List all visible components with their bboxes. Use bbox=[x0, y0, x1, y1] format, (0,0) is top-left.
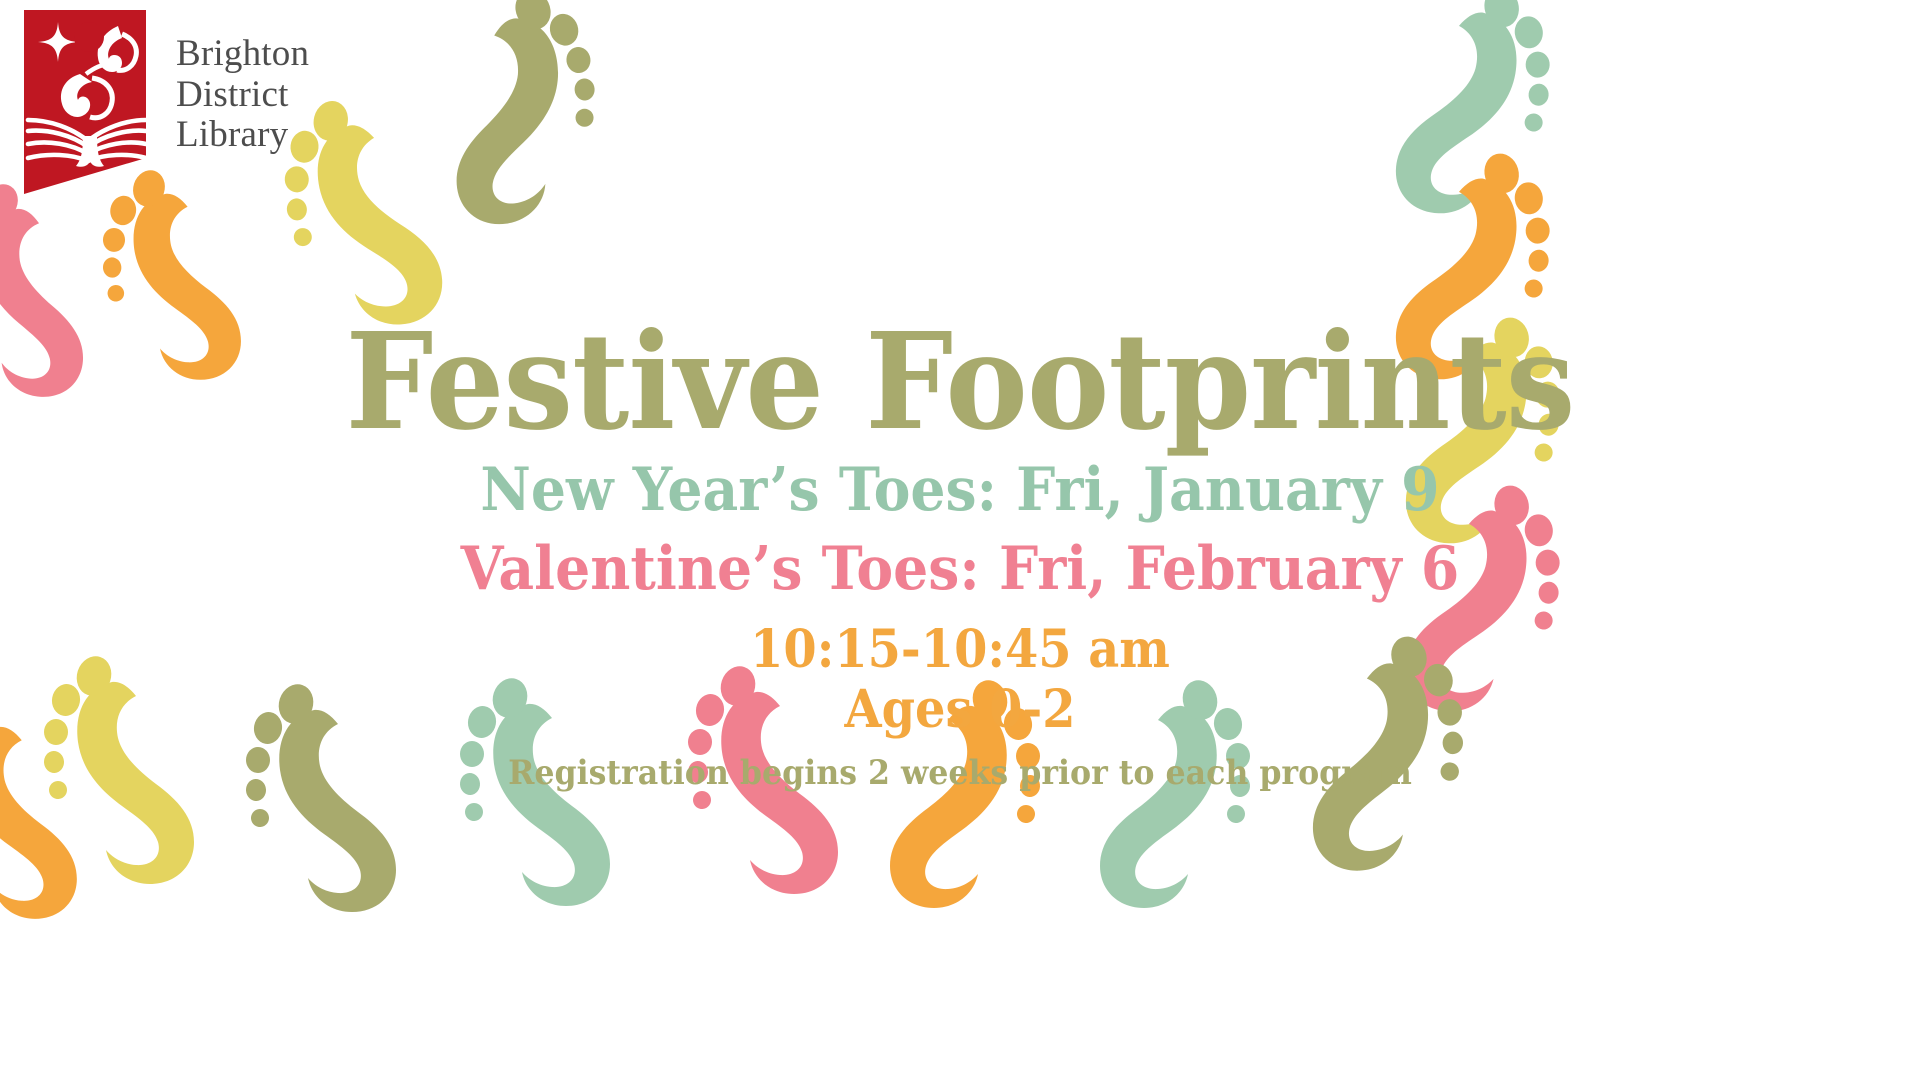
footprint-toe-5 bbox=[250, 808, 270, 828]
footprint-toe-4 bbox=[1528, 83, 1550, 107]
footprint-toe-4 bbox=[1528, 249, 1550, 273]
footprint-sole bbox=[0, 207, 93, 400]
footprint-sole bbox=[0, 727, 77, 919]
footprint-toe-5 bbox=[576, 109, 594, 127]
new-years-session-line: New Year’s Toes: Fri, January 9 bbox=[77, 455, 1843, 526]
footprint-toe-3 bbox=[246, 747, 270, 773]
library-logo-mark-icon bbox=[22, 8, 162, 203]
logo-line-3: Library bbox=[176, 115, 309, 156]
fp-bottom-olive-l bbox=[258, 694, 408, 924]
footprint-toe-5 bbox=[1440, 761, 1460, 781]
footprint-toe-3 bbox=[1016, 743, 1040, 769]
footprint-toe-2 bbox=[1211, 706, 1244, 742]
footprint-toe-2 bbox=[1513, 181, 1545, 217]
footprint-toe-3 bbox=[1535, 549, 1560, 576]
footprint-toe-5 bbox=[692, 790, 712, 810]
footprint-sole bbox=[134, 194, 241, 380]
footprint-toe-4 bbox=[1538, 581, 1560, 605]
footprint-toe-4 bbox=[1229, 774, 1250, 797]
footprint-toe-3 bbox=[688, 729, 712, 755]
footprint-toe-3 bbox=[1226, 743, 1250, 769]
footprint-sole bbox=[435, 13, 579, 229]
logo-line-1: Brighton bbox=[176, 34, 309, 75]
footprint-toe-2 bbox=[465, 704, 498, 740]
footprint-toe-4 bbox=[574, 78, 595, 101]
footprint-toe-3 bbox=[103, 228, 125, 252]
fp-bottom-orange bbox=[878, 690, 1028, 920]
library-logo-text: Brighton District Library bbox=[176, 8, 309, 156]
footprint-toe-3 bbox=[1525, 51, 1550, 78]
footprint-sole bbox=[890, 706, 1007, 908]
footprint-toe-2 bbox=[1523, 345, 1555, 381]
footprint-toe-3 bbox=[565, 45, 592, 74]
footprint-toe-3 bbox=[1535, 381, 1560, 408]
footprint-toe-4 bbox=[459, 772, 480, 795]
fp-bottom-pink bbox=[700, 676, 850, 906]
valentines-session-line: Valentine’s Toes: Fri, February 6 bbox=[77, 534, 1843, 605]
fp-top-yellow bbox=[292, 103, 458, 343]
footprint-toe-2 bbox=[693, 692, 726, 728]
footprint-toe-4 bbox=[102, 257, 122, 278]
footprint-toe-5 bbox=[1533, 442, 1554, 463]
footprint-sole bbox=[493, 704, 610, 906]
event-time: 10:15-10:45 am bbox=[77, 621, 1843, 679]
fp-bottom-sage-2 bbox=[472, 688, 622, 918]
footprint-sole bbox=[279, 710, 396, 912]
logo-line-2: District bbox=[176, 75, 309, 116]
footprint-toe-5 bbox=[106, 284, 125, 303]
footprint-sole bbox=[314, 120, 445, 330]
footprint-toe-5 bbox=[1523, 112, 1544, 133]
footprint-sole bbox=[1307, 662, 1433, 872]
poster-canvas: Brighton District Library Festive Footpr… bbox=[0, 0, 1920, 1080]
footprint-toe-4 bbox=[245, 778, 266, 801]
footprint-toe-4 bbox=[1538, 413, 1560, 437]
footprint-toe-5 bbox=[1523, 278, 1544, 299]
footprint-toe-3 bbox=[1525, 217, 1550, 244]
footprint-toe-5 bbox=[464, 802, 484, 822]
fp-left-orange bbox=[114, 179, 252, 391]
footprint-sole bbox=[721, 692, 838, 894]
footprint-sole bbox=[1100, 706, 1217, 908]
fp-bottom-olive-r bbox=[1294, 645, 1455, 885]
footprint-toe-4 bbox=[1442, 731, 1463, 754]
footprint-toe-4 bbox=[687, 760, 708, 783]
footprint-toe-5 bbox=[1533, 610, 1554, 631]
fp-left-pink bbox=[0, 191, 105, 412]
footprint-toe-2 bbox=[1001, 706, 1034, 742]
brighton-district-library-logo: Brighton District Library bbox=[22, 8, 309, 203]
footprint-toe-5 bbox=[1016, 804, 1036, 824]
footprint-toe-3 bbox=[460, 741, 484, 767]
fp-bottom-sage bbox=[1088, 690, 1238, 920]
footprint-toe-5 bbox=[1226, 804, 1246, 824]
footprint-toe-5 bbox=[292, 226, 313, 247]
footprint-toe-2 bbox=[1513, 15, 1545, 51]
footprint-toe-2 bbox=[1523, 513, 1555, 549]
fp-bottom-edge-pink bbox=[0, 712, 88, 931]
footprint-toe-2 bbox=[251, 710, 284, 746]
footprint-sole bbox=[77, 682, 194, 884]
footprint-toe-4 bbox=[1019, 774, 1040, 797]
